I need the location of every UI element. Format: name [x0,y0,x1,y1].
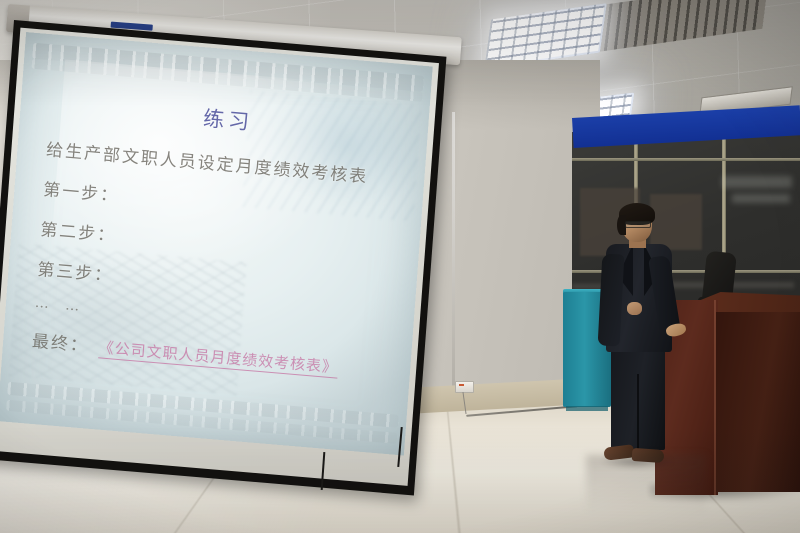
screen-canvas: 练习 给生产部文职人员设定月度绩效考核表 第一步： 第二步： 第三步： … … … [0,28,439,486]
projected-slide: 练习 给生产部文职人员设定月度绩效考核表 第一步： 第二步： 第三步： … … … [0,32,432,455]
eyeglasses-icon [625,221,651,228]
presenter-hand-left [627,302,642,315]
glass-mullion-horizontal-1 [572,158,800,161]
wall-corner-seam [452,112,455,402]
projection-vignette [0,32,432,455]
glass-reflection-light-1 [722,176,792,188]
photo-scene: 练习 给生产部文职人员设定月度绩效考核表 第一步： 第二步： 第三步： … … … [0,0,800,533]
glass-reflection-light-2 [732,194,790,203]
podium-corner-edge [714,300,716,496]
presenter[interactable] [598,206,680,471]
podium-floor-reflection [586,455,706,513]
projection-screen[interactable]: 练习 给生产部文职人员设定月度绩效考核表 第一步： 第二步： 第三步： … … … [0,20,446,495]
podium-side-panel [716,312,800,492]
wall-outlet[interactable] [455,381,474,393]
presenter-leg-seam [637,374,639,452]
